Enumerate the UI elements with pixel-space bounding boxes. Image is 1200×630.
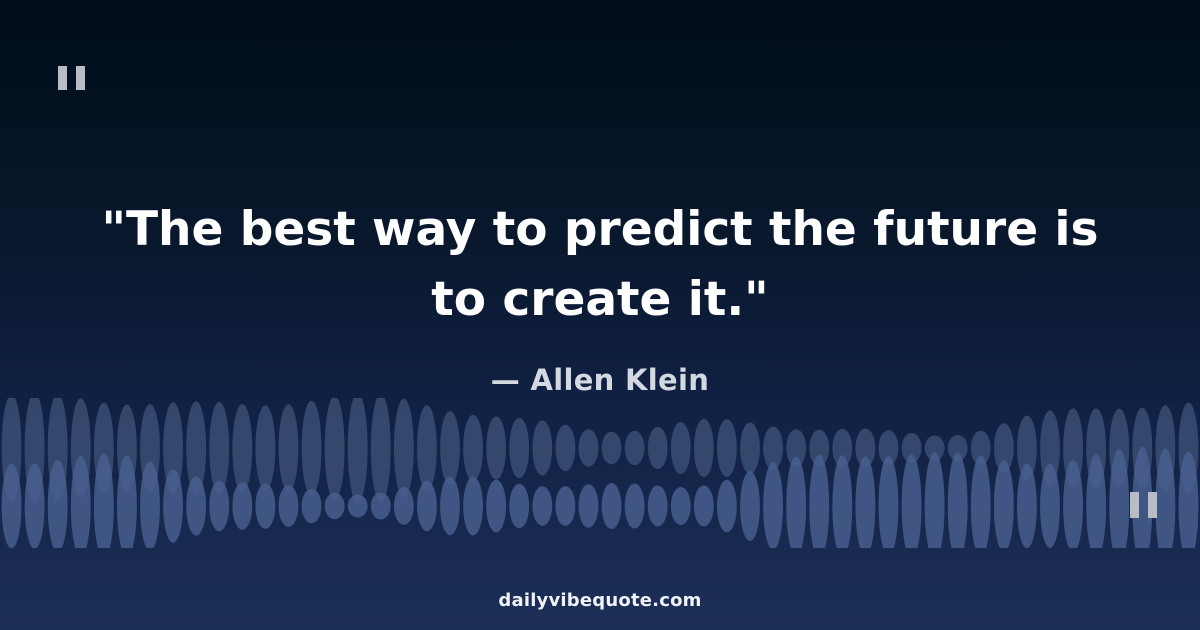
quote-card: "The best way to predict the future is t… [0, 0, 1200, 630]
site-watermark: dailyvibequote.com [498, 590, 701, 611]
author-attribution: — Allen Klein [491, 363, 709, 397]
card-content: "The best way to predict the future is t… [0, 0, 1200, 630]
quote-text: "The best way to predict the future is t… [70, 195, 1130, 335]
